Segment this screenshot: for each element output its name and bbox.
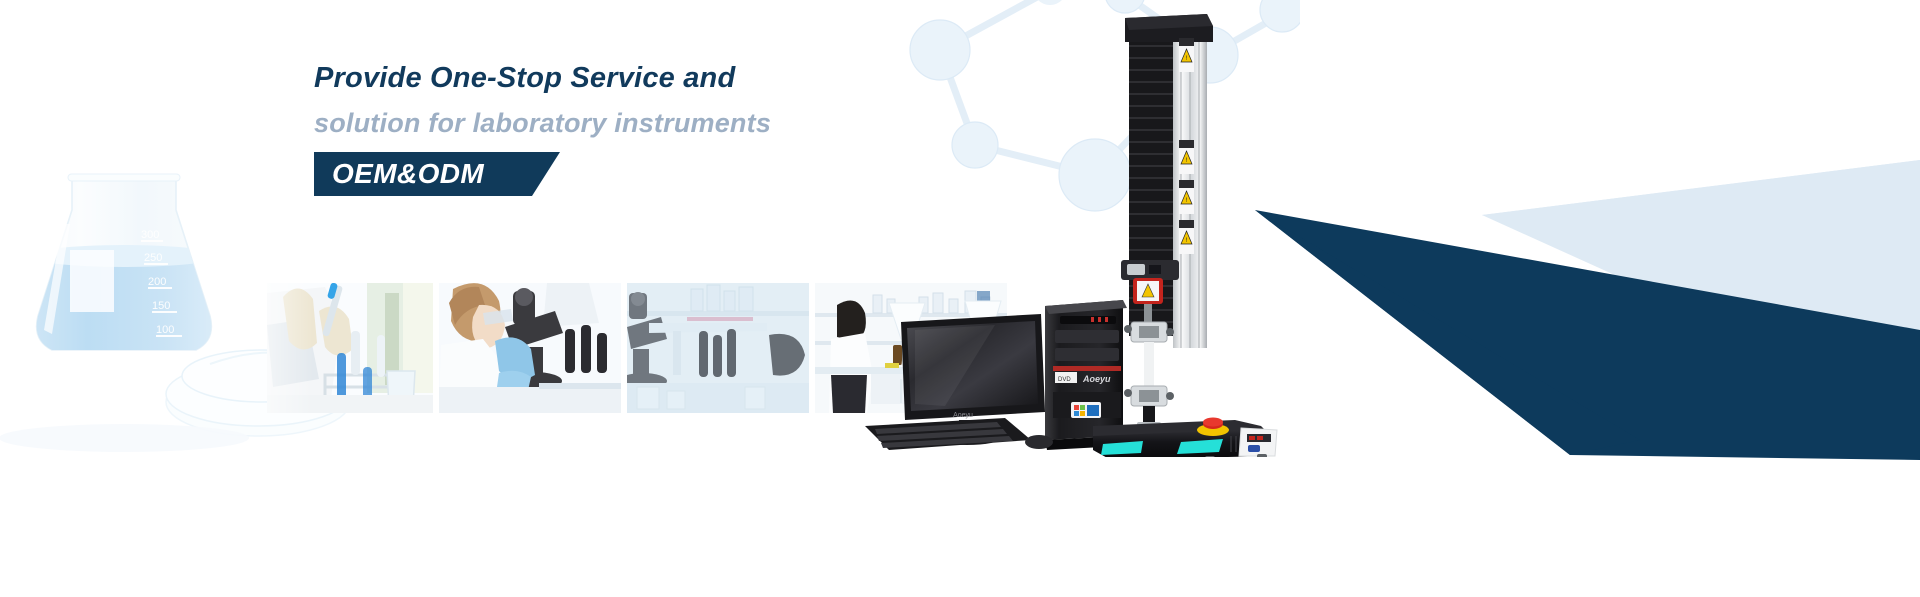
svg-text:300: 300 — [141, 229, 159, 241]
headline-block: Provide One-Stop Service and solution fo… — [314, 56, 954, 196]
photo-microscope — [439, 283, 621, 413]
svg-text:Aoeyu: Aoeyu — [953, 412, 973, 419]
svg-text:DVD: DVD — [1058, 377, 1071, 383]
headline-secondary: solution for laboratory instruments — [314, 100, 954, 146]
decorative-arrows — [1240, 0, 1920, 597]
oem-odm-badge: OEM&ODM — [314, 152, 560, 196]
test-specimen — [1144, 342, 1154, 386]
photo-lab-bench — [627, 283, 809, 413]
warning-labels: ! ! ! ! — [1179, 38, 1194, 254]
badge-label: OEM&ODM — [332, 159, 484, 189]
headline-primary: Provide One-Stop Service and — [314, 56, 954, 100]
computer-keyboard — [865, 418, 1031, 450]
light-blue-arrow — [1482, 160, 1920, 330]
svg-text:150: 150 — [152, 300, 170, 312]
photo-pipetting — [267, 283, 433, 413]
svg-text:250: 250 — [144, 252, 162, 264]
svg-text:200: 200 — [148, 276, 166, 288]
svg-text:100: 100 — [156, 324, 174, 336]
base-cabinet — [1093, 420, 1277, 457]
navy-arrow — [1255, 210, 1920, 460]
emergency-stop-button — [1197, 418, 1229, 437]
promo-banner: 300 250 200 150 100 — [0, 0, 1920, 597]
load-cell — [1133, 278, 1163, 304]
computer-mouse — [1025, 435, 1053, 449]
universal-testing-machine: ! ! ! ! — [1085, 12, 1300, 457]
crosshead — [1121, 260, 1179, 280]
